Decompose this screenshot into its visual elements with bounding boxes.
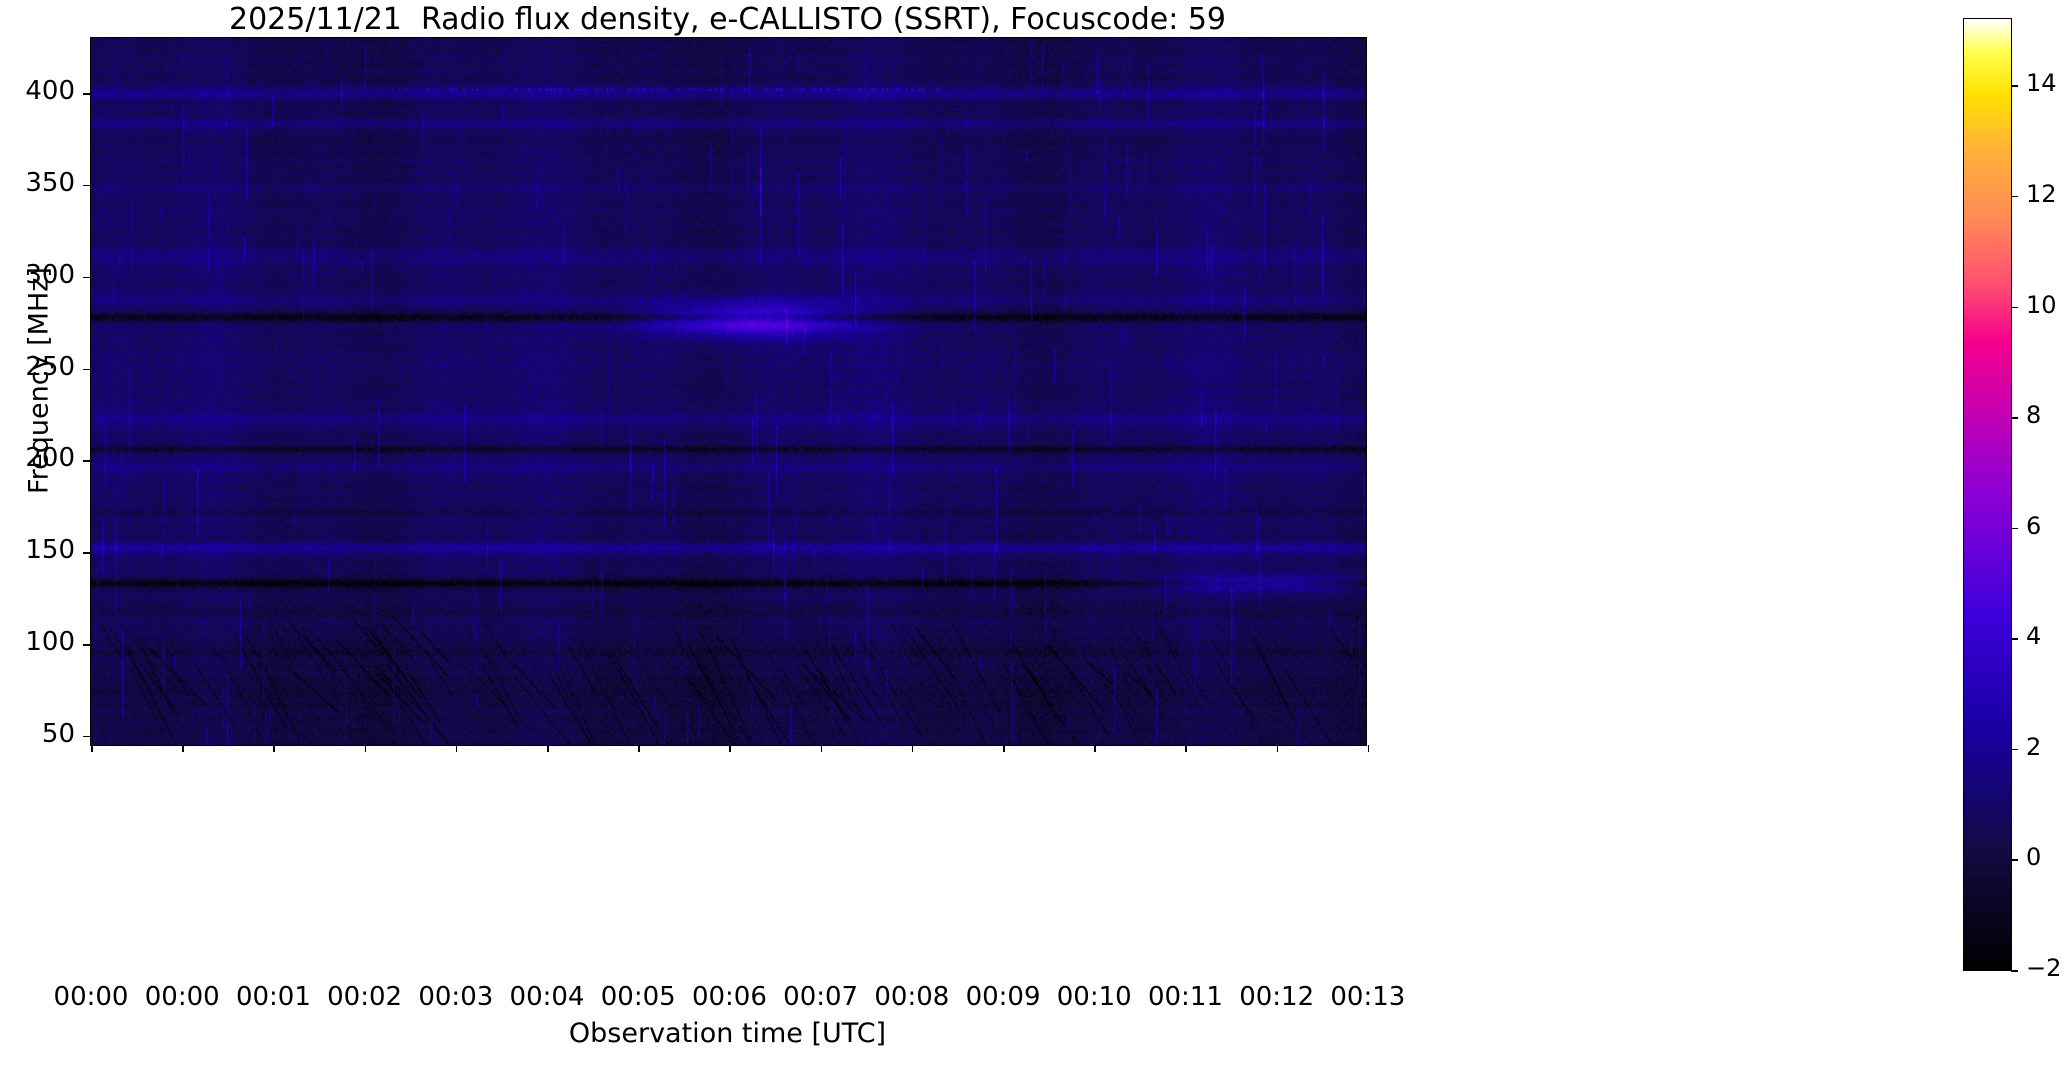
- x-tick-mark: [1003, 745, 1005, 752]
- x-tick-mark: [1368, 745, 1370, 752]
- colorbar-tick-mark: [2011, 970, 2018, 972]
- colorbar-tick-mark: [2011, 859, 2018, 861]
- x-tick-mark: [91, 745, 93, 752]
- x-tick-mark: [456, 745, 458, 752]
- y-tick-mark: [83, 93, 90, 95]
- x-tick-mark: [1094, 745, 1096, 752]
- spectrogram-plot-area: [90, 37, 1367, 746]
- colorbar-tick-mark: [2011, 749, 2018, 751]
- colorbar-tick-label: 6: [2026, 512, 2066, 540]
- y-tick-label: 250: [0, 352, 75, 382]
- x-tick-mark: [1277, 745, 1279, 752]
- x-tick-mark: [821, 745, 823, 752]
- colorbar-tick-mark: [2011, 528, 2018, 530]
- colorbar-tick-label: 8: [2026, 401, 2066, 429]
- y-tick-label: 300: [0, 260, 75, 290]
- y-tick-mark: [83, 644, 90, 646]
- x-tick-mark: [547, 745, 549, 752]
- colorbar-gradient: [1964, 19, 2011, 970]
- x-tick-mark: [273, 745, 275, 752]
- y-tick-mark: [83, 552, 90, 554]
- y-tick-mark: [83, 369, 90, 371]
- x-tick-mark: [638, 745, 640, 752]
- spectrogram-figure: 2025/11/21 Radio flux density, e-CALLIST…: [0, 0, 2066, 1067]
- y-tick-label: 400: [0, 76, 75, 106]
- colorbar-tick-label: 14: [2026, 69, 2066, 97]
- x-tick-mark: [365, 745, 367, 752]
- y-tick-mark: [83, 277, 90, 279]
- y-tick-mark: [83, 185, 90, 187]
- x-tick-mark: [182, 745, 184, 752]
- x-axis-label: Observation time [UTC]: [90, 1018, 1365, 1049]
- y-tick-mark: [83, 736, 90, 738]
- colorbar-tick-mark: [2011, 307, 2018, 309]
- colorbar-tick-mark: [2011, 417, 2018, 419]
- y-tick-label: 150: [0, 535, 75, 565]
- x-tick-label: 00:13: [1298, 982, 1438, 1012]
- x-tick-mark: [912, 745, 914, 752]
- colorbar-tick-mark: [2011, 85, 2018, 87]
- x-tick-mark: [1185, 745, 1187, 752]
- colorbar-tick-mark: [2011, 638, 2018, 640]
- colorbar-tick-label: 0: [2026, 843, 2066, 871]
- colorbar-tick-label: 12: [2026, 180, 2066, 208]
- colorbar-tick-mark: [2011, 196, 2018, 198]
- y-tick-label: 100: [0, 627, 75, 657]
- y-tick-mark: [83, 460, 90, 462]
- colorbar-tick-label: 2: [2026, 733, 2066, 761]
- spectrogram-image: [91, 38, 1366, 745]
- y-tick-label: 50: [0, 719, 75, 749]
- x-tick-mark: [729, 745, 731, 752]
- colorbar-tick-label: 10: [2026, 291, 2066, 319]
- y-tick-label: 200: [0, 443, 75, 473]
- page-title: 2025/11/21 Radio flux density, e-CALLIST…: [90, 4, 1365, 36]
- colorbar-tick-label: −2: [2026, 954, 2066, 982]
- colorbar-tick-label: 4: [2026, 622, 2066, 650]
- colorbar: [1963, 18, 2012, 971]
- y-tick-label: 350: [0, 168, 75, 198]
